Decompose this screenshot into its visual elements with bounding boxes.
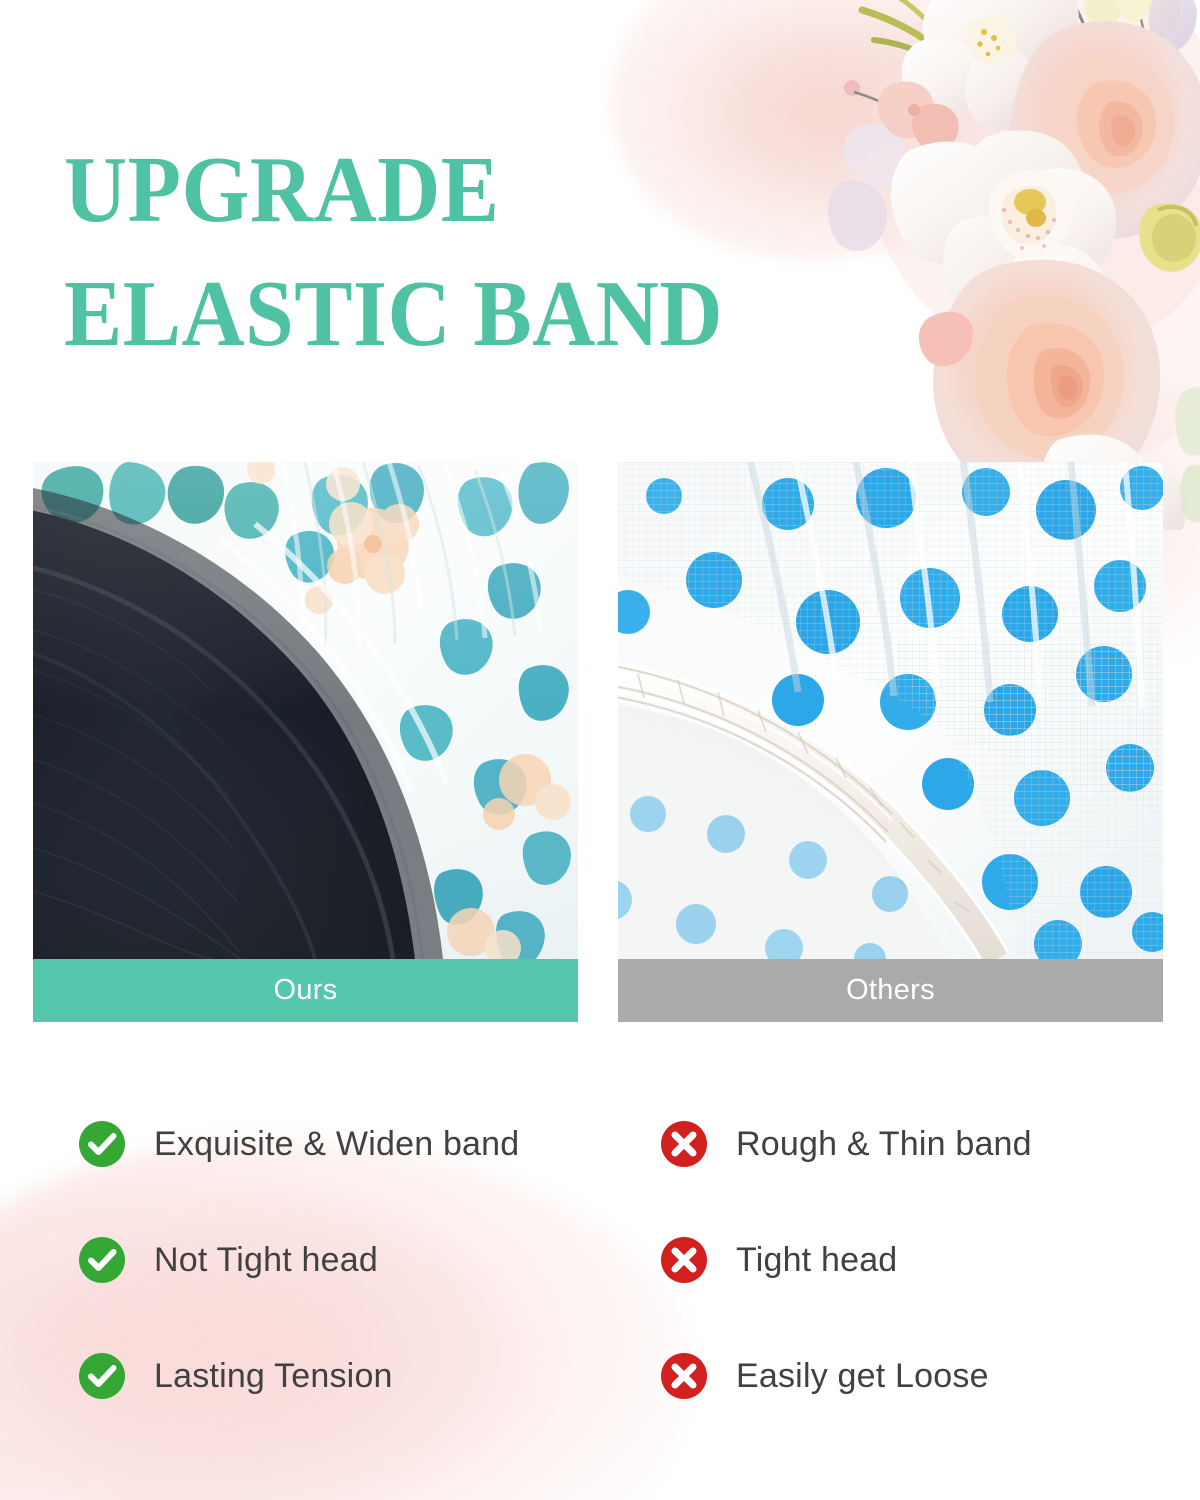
x-circle-icon	[660, 1120, 708, 1168]
cons-list-item-label: Rough & Thin band	[736, 1125, 1032, 1164]
pros-list-item-label: Not Tight head	[154, 1241, 378, 1280]
comparison-panel-ours: Ours	[33, 462, 578, 1022]
cons-list-item-label: Tight head	[736, 1241, 897, 1280]
check-circle-icon	[78, 1352, 126, 1400]
pros-list-item: Not Tight head	[78, 1202, 660, 1318]
ours-product-photo	[33, 462, 578, 959]
others-product-photo	[618, 462, 1163, 959]
cons-list: Rough & Thin band Tight head	[660, 1086, 1200, 1434]
pros-list-item: Exquisite & Widen band	[78, 1086, 660, 1202]
floral-bouquet-icon	[822, 0, 1200, 530]
cons-list-item: Rough & Thin band	[660, 1086, 1200, 1202]
infographic-page: UPGRADE ELASTIC BAND	[0, 0, 1200, 1500]
check-circle-icon	[78, 1236, 126, 1284]
pros-list-item-label: Lasting Tension	[154, 1357, 393, 1396]
pros-list-item: Lasting Tension	[78, 1318, 660, 1434]
x-circle-icon	[660, 1352, 708, 1400]
cons-list-item-label: Easily get Loose	[736, 1357, 989, 1396]
check-circle-icon	[78, 1120, 126, 1168]
comparison-panels: Ours	[33, 462, 1163, 1022]
pros-list: Exquisite & Widen band Not Tight head	[0, 1086, 660, 1434]
cons-list-item: Easily get Loose	[660, 1318, 1200, 1434]
x-circle-icon	[660, 1236, 708, 1284]
feature-comparison-lists: Exquisite & Widen band Not Tight head	[0, 1086, 1200, 1434]
pros-list-item-label: Exquisite & Widen band	[154, 1125, 519, 1164]
comparison-panel-others: Others	[618, 462, 1163, 1022]
caption-ours: Ours	[33, 959, 578, 1022]
cons-list-item: Tight head	[660, 1202, 1200, 1318]
page-title: UPGRADE ELASTIC BAND	[64, 128, 864, 376]
caption-others: Others	[618, 959, 1163, 1022]
